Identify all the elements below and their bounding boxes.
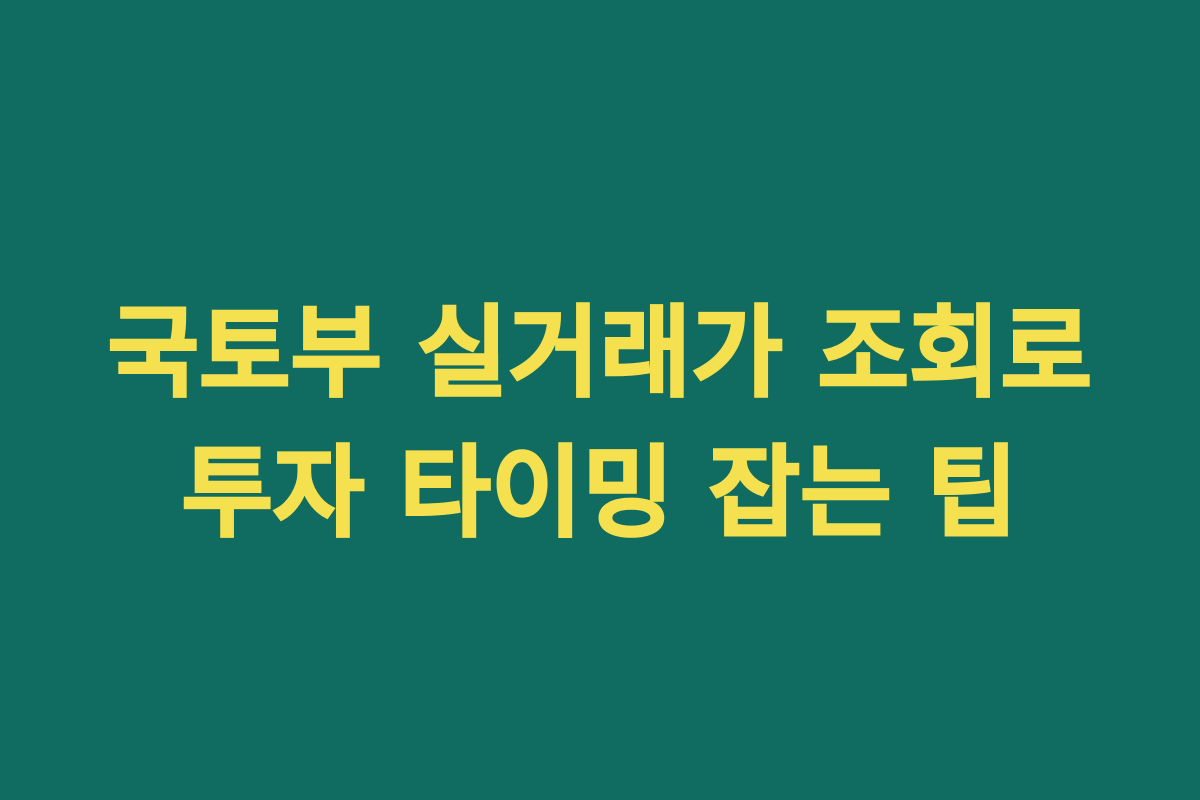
title-line-1: 국토부 실거래가 조회로 <box>0 284 1200 424</box>
thumbnail-canvas: 국토부 실거래가 조회로 투자 타이밍 잡는 팁 <box>0 0 1200 800</box>
title-line-2: 투자 타이밍 잡는 팁 <box>0 424 1200 564</box>
title-block: 국토부 실거래가 조회로 투자 타이밍 잡는 팁 <box>0 284 1200 564</box>
